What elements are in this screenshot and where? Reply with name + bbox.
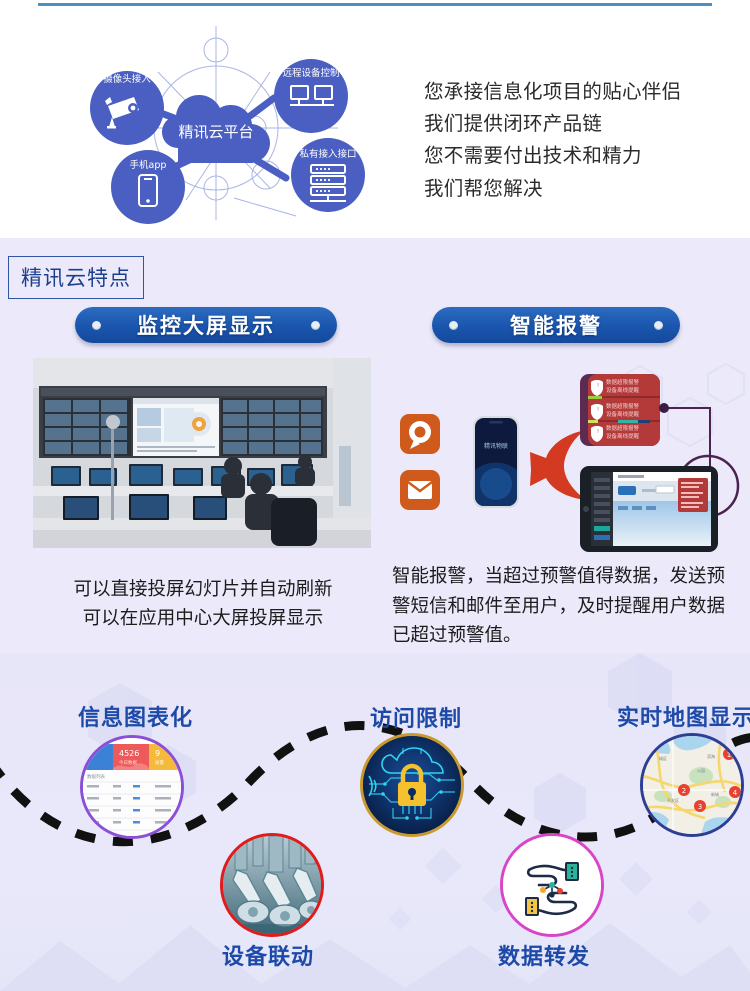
feature-title-map: 实时地图显示 [617,700,750,732]
dashboard-chart-icon[interactable]: 4526 今日数据 9 报警 数据列表 [80,735,184,839]
svg-text:4: 4 [733,789,738,797]
hero-tagline-block: 您承接信息化项目的贴心伴侣 我们提供闭环产品链 您不需要付出技术和精力 我们帮您… [424,76,744,205]
svg-text:9: 9 [155,749,160,758]
control-room-photo [33,358,371,548]
svg-text:2: 2 [682,787,686,795]
svg-text:报警: 报警 [155,759,164,766]
svg-text:数据超限报警: 数据超限报警 [606,424,640,432]
smartphone-device: 精讯物联 [473,416,519,508]
svg-text:新城: 新城 [711,791,719,797]
svg-text:开发区: 开发区 [667,797,679,803]
svg-text:!: ! [597,429,599,435]
left-caption-line-2: 可以在应用中心大屏投屏显示 [20,605,386,634]
map-marker: 2 [678,784,690,796]
hero-section: 精讯云平台 摄像头接入 远程设备控制 [0,6,750,238]
node-api-label: 私有接入接口 [299,148,356,160]
map-marker: 3 [694,800,706,812]
hero-line-4: 我们帮您解决 [424,173,744,205]
feature-title-charts: 信息图表化 [78,700,193,732]
svg-text:设备离线提醒: 设备离线提醒 [606,386,640,394]
pill-left-label: 监控大屏显示 [137,310,275,340]
svg-text:1: 1 [727,751,731,759]
hero-line-3: 您不需要付出技术和精力 [424,140,744,172]
pill-dot-right [654,321,663,330]
pill-dot-left [92,321,101,330]
red-arrow-left [530,430,586,500]
left-caption-line-1: 可以直接投屏幻灯片并自动刷新 [20,576,386,605]
svg-text:公园: 公园 [697,767,705,773]
padlock-circuit-icon[interactable] [360,733,464,837]
left-feature-caption: 可以直接投屏幻灯片并自动刷新 可以在应用中心大屏投屏显示 [20,576,386,633]
hero-line-1: 您承接信息化项目的贴心伴侣 [424,76,744,108]
svg-text:3: 3 [698,803,702,811]
cloud-platform-diagram: 精讯云平台 摄像头接入 远程设备控制 [38,20,398,235]
smart-alarm-illustration: 精讯物联 [390,358,750,554]
feature-title-linkage: 设备联动 [222,939,314,971]
svg-text:设备离线提醒: 设备离线提醒 [606,410,640,418]
page-root: 精讯云平台 摄像头接入 远程设备控制 [0,0,750,991]
envelope-icon [400,470,440,510]
pill-smart-alarm[interactable]: 智能报警 [432,307,680,343]
diagram-center-label: 精讯云平台 [178,123,253,141]
tablet-dashboard [580,466,718,552]
svg-text:城区: 城区 [659,755,667,761]
svg-text:!: ! [597,407,599,413]
feature-title-access: 访问限制 [370,701,462,733]
sms-bubble-icon [400,414,440,454]
connector-dot [659,403,669,413]
svg-text:数据超限报警: 数据超限报警 [606,402,640,410]
hands-data-exchange-icon[interactable] [500,833,604,937]
svg-text:设备离线提醒: 设备离线提醒 [606,432,640,440]
pill-monitor-display[interactable]: 监控大屏显示 [75,307,337,343]
feature-title-forward: 数据转发 [498,939,590,971]
pill-dot-right [311,321,320,330]
svg-text:滨海: 滨海 [707,753,715,759]
svg-text:数据超限报警: 数据超限报警 [606,378,640,386]
node-remote-label: 远程设备控制 [282,67,339,79]
svg-text:精讯物联: 精讯物联 [484,442,508,450]
svg-text:数据列表: 数据列表 [87,773,105,780]
node-camera-label: 摄像头接入 [103,73,151,85]
svg-text:!: ! [597,383,599,389]
hero-line-2: 我们提供闭环产品链 [424,108,744,140]
svg-text:今日数据: 今日数据 [119,759,137,766]
alarm-notification-cards: !!! 数据超限报警设备离线提醒 数据超限报警设备离线提醒 数据超限报警设备离线… [580,374,660,446]
right-feature-caption: 智能报警，当超过预警值得数据，发送预警短信和邮件至用户，及时提醒用户数据已超过预… [392,562,742,651]
map-marker: 4 [729,786,741,798]
pill-dot-left [449,321,458,330]
svg-text:4526: 4526 [119,749,139,758]
section-badge-title: 精讯云特点 [8,256,144,299]
robotic-machinery-icon[interactable] [220,833,324,937]
map-markers-icon[interactable]: 1 2 3 4 城区滨海 公园开发区新城 [640,733,744,837]
pill-right-label: 智能报警 [510,310,602,340]
node-app-label: 手机app [130,159,167,171]
